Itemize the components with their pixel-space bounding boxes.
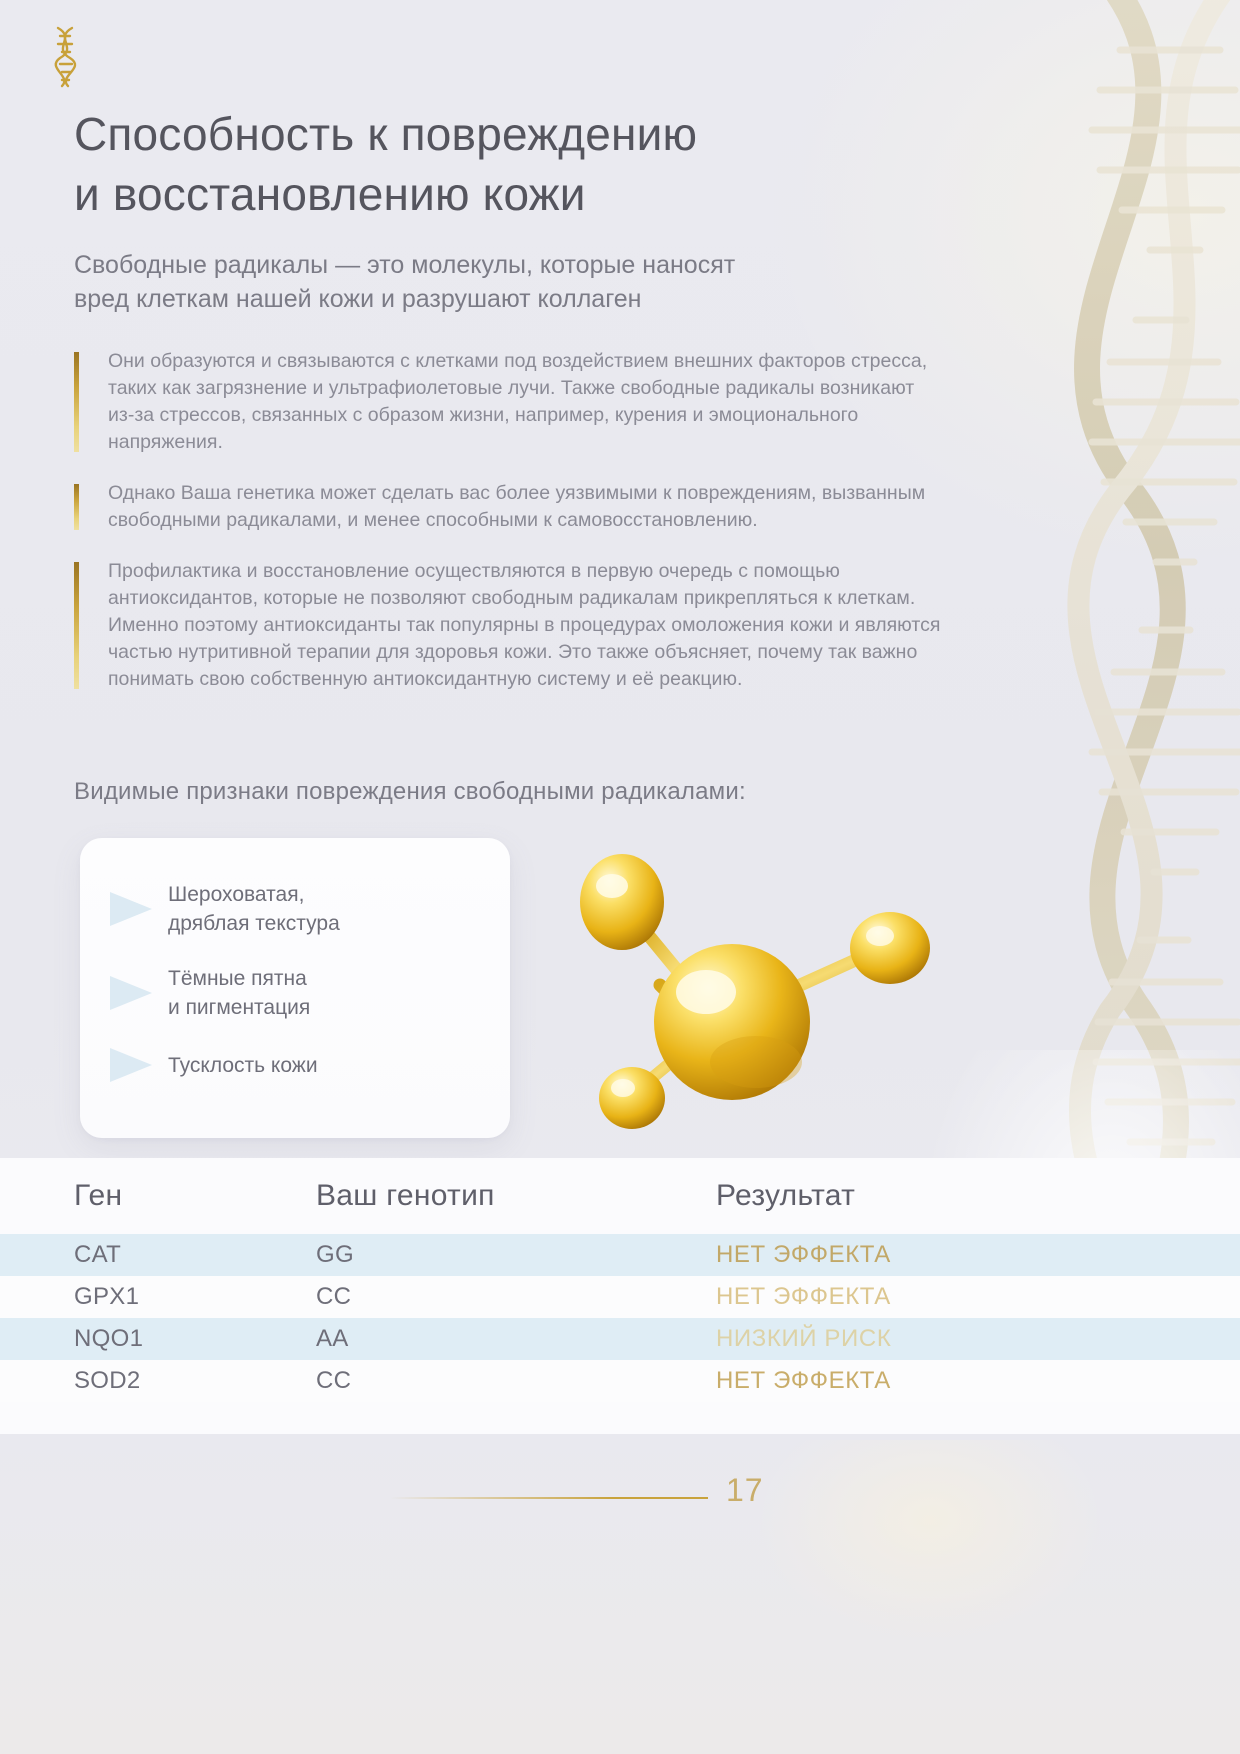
list-item-label: Тусклость кожи — [168, 1051, 318, 1080]
list-item-label: Шероховатая,дряблая текстура — [168, 880, 340, 938]
cell-result: НЕТ ЭФФЕКТА — [716, 1283, 1240, 1311]
table-row: SOD2 CC НЕТ ЭФФЕКТА — [0, 1360, 1240, 1402]
page-subtitle: Свободные радикалы — это молекулы, котор… — [74, 248, 954, 316]
cell-genotype: GG — [316, 1241, 716, 1269]
triangle-bullet-icon — [110, 892, 152, 926]
list-item: Шероховатая,дряблая текстура — [110, 880, 510, 938]
cell-gene: CAT — [0, 1241, 316, 1269]
table-row: CAT GG НЕТ ЭФФЕКТА — [0, 1234, 1240, 1276]
body-paragraph-list: Они образуются и связываются с клетками … — [74, 348, 944, 717]
page-subtitle-line1: Свободные радикалы — это молекулы, котор… — [74, 251, 735, 279]
body-paragraph-block: Профилактика и восстановление осуществля… — [74, 558, 944, 693]
list-item-label: Тёмные пятнаи пигментация — [168, 964, 310, 1022]
gold-accent-bar — [74, 484, 79, 530]
table-row: NQO1 AA НИЗКИЙ РИСК — [0, 1318, 1240, 1360]
list-item: Тёмные пятнаи пигментация — [110, 964, 510, 1022]
footer-rule — [390, 1497, 708, 1499]
column-header-gene: Ген — [0, 1179, 316, 1213]
column-header-genotype: Ваш генотип — [316, 1179, 716, 1213]
cell-gene: GPX1 — [0, 1283, 316, 1311]
body-paragraph-block: Они образуются и связываются с клетками … — [74, 348, 944, 456]
body-paragraph-text: Профилактика и восстановление осуществля… — [108, 558, 944, 693]
table-row: GPX1 CC НЕТ ЭФФЕКТА — [0, 1276, 1240, 1318]
page-title-line1: Способность к повреждению — [74, 108, 697, 160]
list-item: Тусклость кожи — [110, 1048, 510, 1082]
dna-logo-icon — [42, 24, 88, 90]
page-number: 17 — [726, 1472, 764, 1509]
page-title-line2: и восстановлению кожи — [74, 168, 586, 220]
table-header-row: Ген Ваш генотип Результат — [0, 1158, 1240, 1234]
page-title: Способность к повреждению и восстановлен… — [74, 104, 974, 224]
gold-accent-bar — [74, 562, 79, 689]
cell-genotype: AA — [316, 1325, 716, 1353]
body-paragraph-text: Они образуются и связываются с клетками … — [108, 348, 944, 456]
signs-section-heading: Видимые признаки повреждения свободными … — [74, 778, 974, 806]
page-subtitle-line2: вред клеткам нашей кожи и разрушают колл… — [74, 285, 642, 313]
column-header-result: Результат — [716, 1179, 1240, 1213]
cell-gene: SOD2 — [0, 1367, 316, 1395]
gold-accent-bar — [74, 352, 79, 452]
cell-genotype: CC — [316, 1283, 716, 1311]
body-paragraph-text: Однако Ваша генетика может сделать вас б… — [108, 480, 944, 534]
cell-result: НИЗКИЙ РИСК — [716, 1325, 1240, 1353]
cell-genotype: CC — [316, 1367, 716, 1395]
body-paragraph-block: Однако Ваша генетика может сделать вас б… — [74, 480, 944, 534]
triangle-bullet-icon — [110, 1048, 152, 1082]
cell-gene: NQO1 — [0, 1325, 316, 1353]
visible-signs-card: Шероховатая,дряблая текстура Тёмные пятн… — [80, 838, 510, 1138]
cell-result: НЕТ ЭФФЕКТА — [716, 1367, 1240, 1395]
cell-result: НЕТ ЭФФЕКТА — [716, 1241, 1240, 1269]
results-table: Ген Ваш генотип Результат CAT GG НЕТ ЭФФ… — [0, 1158, 1240, 1402]
triangle-bullet-icon — [110, 976, 152, 1010]
footer-glow — [760, 1440, 1100, 1640]
